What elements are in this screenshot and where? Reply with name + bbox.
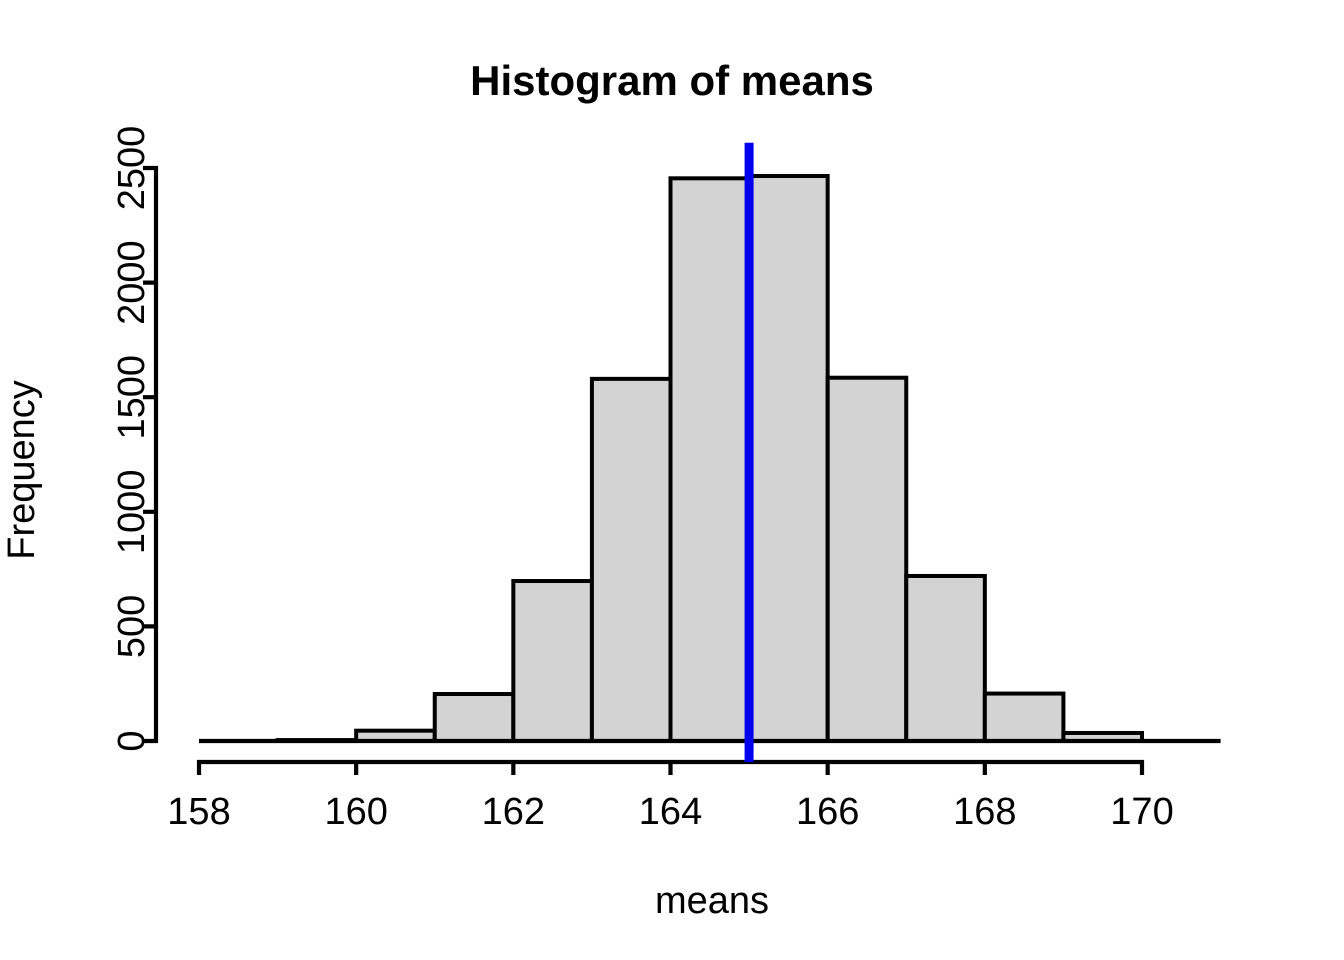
histogram-bar (671, 178, 750, 741)
histogram-bar (985, 694, 1064, 741)
y-axis-tick-label: 500 (111, 595, 153, 658)
y-axis-title: Frequency (1, 380, 43, 560)
histogram-chart: Histogram of means 05001000150020002500 … (0, 0, 1344, 960)
histogram-bar (749, 176, 828, 741)
y-axis-tick-label: 2000 (111, 240, 153, 325)
x-axis-tick-label: 160 (324, 791, 387, 833)
x-axis-tick-label: 162 (482, 791, 545, 833)
x-axis-tick-label: 158 (167, 791, 230, 833)
x-axis-tick-label: 164 (639, 791, 702, 833)
x-axis-title: means (655, 880, 769, 922)
x-axis-tick-label: 168 (953, 791, 1016, 833)
y-axis-tick-label: 2500 (111, 126, 153, 211)
x-axis-tick-label: 170 (1110, 791, 1173, 833)
y-axis-tick-label: 0 (111, 730, 153, 751)
histogram-bar (828, 378, 907, 741)
x-axis-tick-label: 166 (796, 791, 859, 833)
histogram-bar (906, 576, 985, 741)
y-axis-tick-label: 1000 (111, 470, 153, 555)
histogram-plot-panel: Histogram of means 05001000150020002500 … (0, 0, 1344, 960)
y-axis-tick-label: 1500 (111, 355, 153, 440)
chart-title: Histogram of means (470, 57, 874, 104)
histogram-bar (513, 581, 592, 741)
histogram-bar (435, 694, 514, 741)
histogram-bar (592, 379, 671, 741)
